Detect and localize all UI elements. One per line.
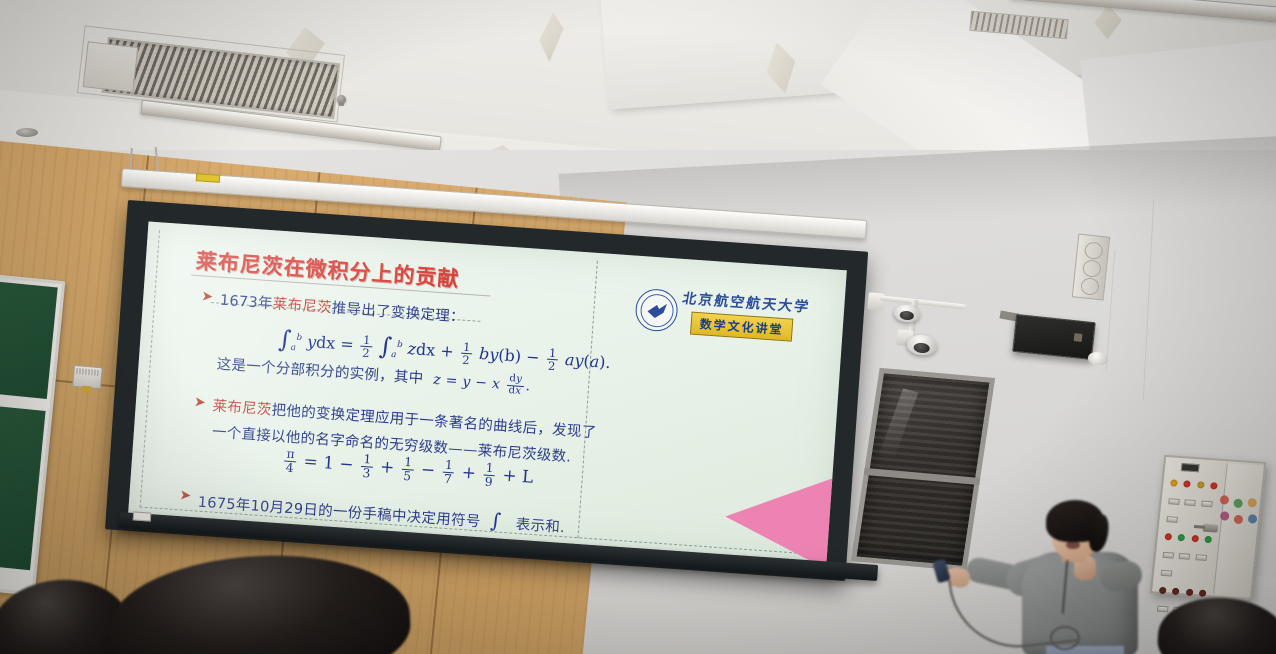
bullet-1-text: 1673年莱布尼茨推导出了变换定理： [219,289,465,327]
bullet-arrow-icon: ➤ [201,289,214,304]
bullet-arrow-icon: ➤ [179,488,192,503]
indicator-lamp [1191,535,1199,542]
presenter-mouth [1066,541,1080,549]
wall-air-unit [1072,234,1111,301]
indicator-lamp [1170,479,1178,486]
sprinkler-icon [337,95,346,104]
window-mullion [864,468,981,485]
cable-loop [1050,626,1080,650]
indicator-lamp [1197,481,1205,488]
slide-divider-line [578,261,598,538]
ceiling-fixture [16,128,38,137]
projected-slide: 莱布尼茨在微积分上的贡献 ➤ 1673年莱布尼茨推导出了变换定理： ∫ab yd… [128,221,847,561]
indicator-lamp [1186,589,1194,596]
wall-device-plug [82,386,92,394]
bird-emblem-icon [647,303,667,319]
classroom-scene: 莱布尼茨在微积分上的贡献 ➤ 1673年莱布尼茨推导出了变换定理： ∫ab yd… [0,0,1276,654]
panel-label [1185,499,1197,506]
pink-triangle-highlight [722,469,838,562]
bullet-arrow-icon: ➤ [194,395,207,410]
lecture-series-banner: 数学文化讲堂 [690,312,793,342]
indicator-lamp [1210,482,1218,489]
chalkboard-surface [0,275,58,399]
wall-decoration [1216,495,1262,543]
university-logo: 北京航空航天大学 数学文化讲堂 [634,284,827,351]
panel-label [1201,501,1213,508]
beihang-seal-icon [634,288,679,333]
panel-label [1195,554,1207,561]
chalkboard-surface [0,399,46,571]
indicator-lamp [1199,590,1207,597]
slide-title: 莱布尼茨在微积分上的贡献 [195,245,460,293]
ac-access-panel [83,41,139,92]
indicator-lamp [1184,480,1192,487]
panel-label-plate [1181,463,1200,472]
slide-bullet-1: ➤ 1673年莱布尼茨推导出了变换定理： [201,287,466,326]
indicator-lamp [1205,536,1213,543]
screen-bar-label [133,511,152,521]
presenter [1004,498,1184,654]
window-reflection [879,388,919,459]
roller-label [196,173,220,183]
